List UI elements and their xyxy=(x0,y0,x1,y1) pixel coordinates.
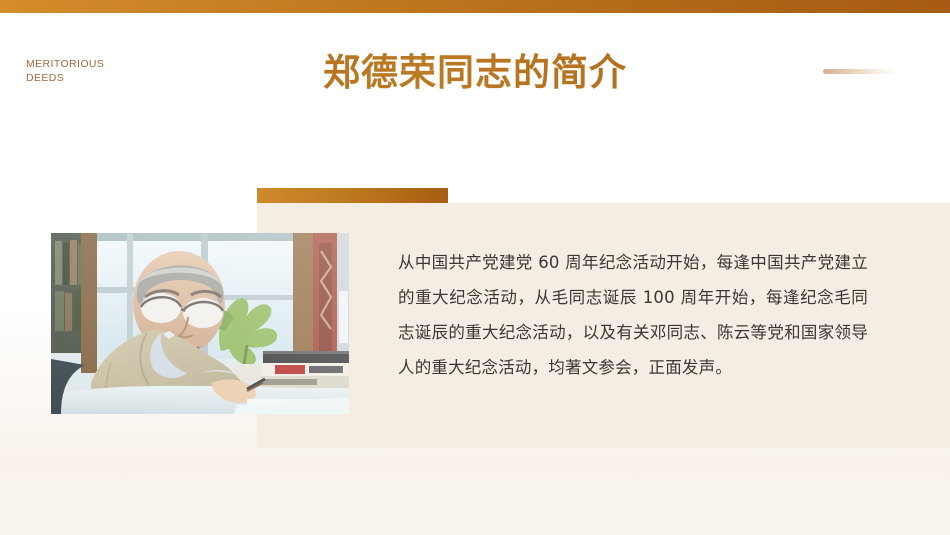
panel-accent-bar xyxy=(257,188,448,203)
page-title: 郑德荣同志的简介 xyxy=(0,48,950,98)
top-gradient-bar xyxy=(0,0,950,13)
body-paragraph: 从中国共产党建党 60 周年纪念活动开始，每逢中国共产党建立的重大纪念活动，从毛… xyxy=(398,245,868,385)
header-rule-icon xyxy=(823,69,896,74)
slide-root: MERITORIOUS DEEDS 郑德荣同志的简介 xyxy=(0,0,950,535)
portrait-photo xyxy=(51,233,349,414)
portrait-photo-graphic xyxy=(51,233,349,414)
bottom-gradient-wash-2 xyxy=(0,465,950,535)
